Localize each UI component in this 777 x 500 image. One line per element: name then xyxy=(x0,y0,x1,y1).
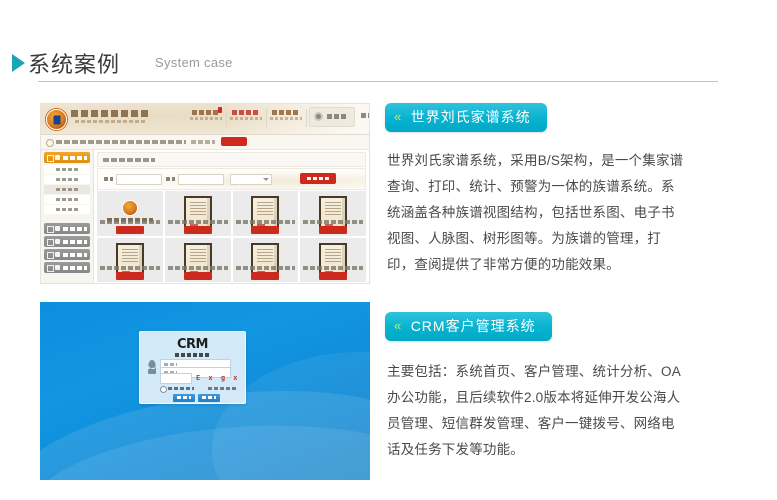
genealogy-top-bar xyxy=(41,104,369,135)
section-header: 系统案例 System case xyxy=(0,48,777,84)
nav-item-ebook[interactable] xyxy=(229,108,263,120)
content-tab-label xyxy=(103,158,155,162)
reset-button[interactable] xyxy=(198,394,220,402)
crm-logo-subtitle xyxy=(175,353,211,357)
book-detail-button[interactable] xyxy=(319,226,347,234)
book-detail-button[interactable] xyxy=(251,272,279,280)
breadcrumb-action-button[interactable] xyxy=(221,137,247,146)
breadcrumb-text xyxy=(56,140,186,144)
book-caption xyxy=(168,220,228,224)
book-card[interactable] xyxy=(233,238,299,283)
crest-icon xyxy=(122,200,138,216)
header-divider xyxy=(38,81,718,82)
case-badge-label: CRM客户管理系统 xyxy=(411,318,536,334)
sidebar-item-stats-tools[interactable] xyxy=(44,249,90,260)
case-description: 主要包括：系统首页、客户管理、统计分析、OA办公功能，且后续软件2.0版本将延伸… xyxy=(387,359,685,463)
genealogy-sidebar xyxy=(41,150,94,283)
crm-login-page: CRM E x g x xyxy=(40,302,370,480)
book-detail-button[interactable] xyxy=(184,272,212,280)
sidebar-item-system-mgmt[interactable] xyxy=(44,262,90,273)
genealogy-app-window xyxy=(40,103,370,284)
nav-divider xyxy=(306,109,307,127)
crm-logo: CRM xyxy=(140,338,245,351)
user-menu[interactable] xyxy=(309,107,355,127)
case-description: 世界刘氏家谱系统，采用B/S架构，是一个集家谱查询、打印、统计、预警为一体的族谱… xyxy=(387,148,685,278)
nav-item-lineage[interactable] xyxy=(269,108,303,120)
remember-password-label xyxy=(168,387,194,390)
case-text-genealogy: « 世界刘氏家谱系统 世界刘氏家谱系统，采用B/S架构，是一个集家谱查询、打印、… xyxy=(385,103,685,278)
search-input-region[interactable] xyxy=(178,174,224,185)
page-subtitle: System case xyxy=(155,55,233,70)
page-title: 系统案例 xyxy=(28,47,120,79)
captcha-code: E x g x xyxy=(196,374,240,382)
forgot-password-link[interactable] xyxy=(208,387,236,390)
book-caption xyxy=(303,220,363,224)
book-caption xyxy=(100,220,160,224)
book-detail-button[interactable] xyxy=(116,272,144,280)
book-detail-button[interactable] xyxy=(116,226,144,234)
sidebar-item-ebook[interactable] xyxy=(44,152,90,163)
book-card[interactable] xyxy=(97,238,163,283)
nav-divider xyxy=(226,109,227,127)
book-card[interactable] xyxy=(165,191,231,236)
book-grid xyxy=(97,191,366,282)
book-card[interactable] xyxy=(300,191,366,236)
username-placeholder xyxy=(164,363,177,366)
user-name-label xyxy=(327,114,347,119)
genealogy-brand-subtitle xyxy=(75,120,145,123)
genealogy-brand-title xyxy=(71,110,151,117)
book-card[interactable] xyxy=(233,191,299,236)
login-button[interactable] xyxy=(173,394,195,402)
book-card[interactable] xyxy=(97,191,163,236)
book-card[interactable] xyxy=(165,238,231,283)
case-badge-genealogy[interactable]: « 世界刘氏家谱系统 xyxy=(385,103,547,132)
case-text-crm: « CRM客户管理系统 主要包括：系统首页、客户管理、统计分析、OA办公功能，且… xyxy=(385,312,685,463)
book-card[interactable] xyxy=(300,238,366,283)
screenshot-crm-login[interactable]: CRM E x g x xyxy=(40,302,370,480)
search-input-name[interactable] xyxy=(116,174,162,185)
genealogy-logo-icon xyxy=(46,109,67,130)
lock-icon xyxy=(148,369,156,374)
breadcrumb-text-tail xyxy=(191,140,215,144)
search-submit-button[interactable] xyxy=(300,173,336,184)
book-caption xyxy=(168,266,228,270)
genealogy-body xyxy=(41,150,369,283)
book-detail-button[interactable] xyxy=(319,272,347,280)
sidebar-item-family-mgmt[interactable] xyxy=(44,223,90,234)
book-caption xyxy=(100,266,160,270)
crm-login-card: CRM E x g x xyxy=(139,331,246,404)
sidebar-subitem-0[interactable] xyxy=(44,165,90,174)
logout-button[interactable] xyxy=(361,113,370,118)
screenshot-genealogy-system[interactable] xyxy=(40,103,370,284)
location-icon xyxy=(46,139,54,147)
content-tab-bar xyxy=(97,152,366,167)
nav-badge-icon xyxy=(218,107,222,113)
book-detail-button[interactable] xyxy=(184,226,212,234)
sidebar-subitem-4[interactable] xyxy=(44,205,90,214)
genealogy-main-panel xyxy=(94,150,369,283)
case-badge-label: 世界刘氏家谱系统 xyxy=(411,109,531,125)
book-caption xyxy=(303,266,363,270)
double-chevron-left-icon: « xyxy=(394,318,400,333)
double-chevron-left-icon: « xyxy=(394,109,400,124)
book-detail-button[interactable] xyxy=(251,226,279,234)
search-label-name xyxy=(104,177,113,181)
search-select-region[interactable] xyxy=(230,174,272,185)
book-caption xyxy=(236,220,296,224)
sidebar-subitem-3[interactable] xyxy=(44,195,90,204)
captcha-input[interactable] xyxy=(160,373,192,384)
case-badge-crm[interactable]: « CRM客户管理系统 xyxy=(385,312,552,341)
search-label-region xyxy=(166,177,175,181)
breadcrumb-bar xyxy=(41,135,369,150)
avatar xyxy=(314,112,323,121)
sidebar-item-clan-mgmt[interactable] xyxy=(44,236,90,247)
sidebar-subitem-1[interactable] xyxy=(44,175,90,184)
nav-divider xyxy=(266,109,267,127)
sidebar-subitem-2[interactable] xyxy=(44,185,90,194)
book-caption xyxy=(236,266,296,270)
checkbox-icon xyxy=(160,386,167,393)
triangle-marker-icon xyxy=(12,54,25,72)
search-panel xyxy=(97,168,366,190)
